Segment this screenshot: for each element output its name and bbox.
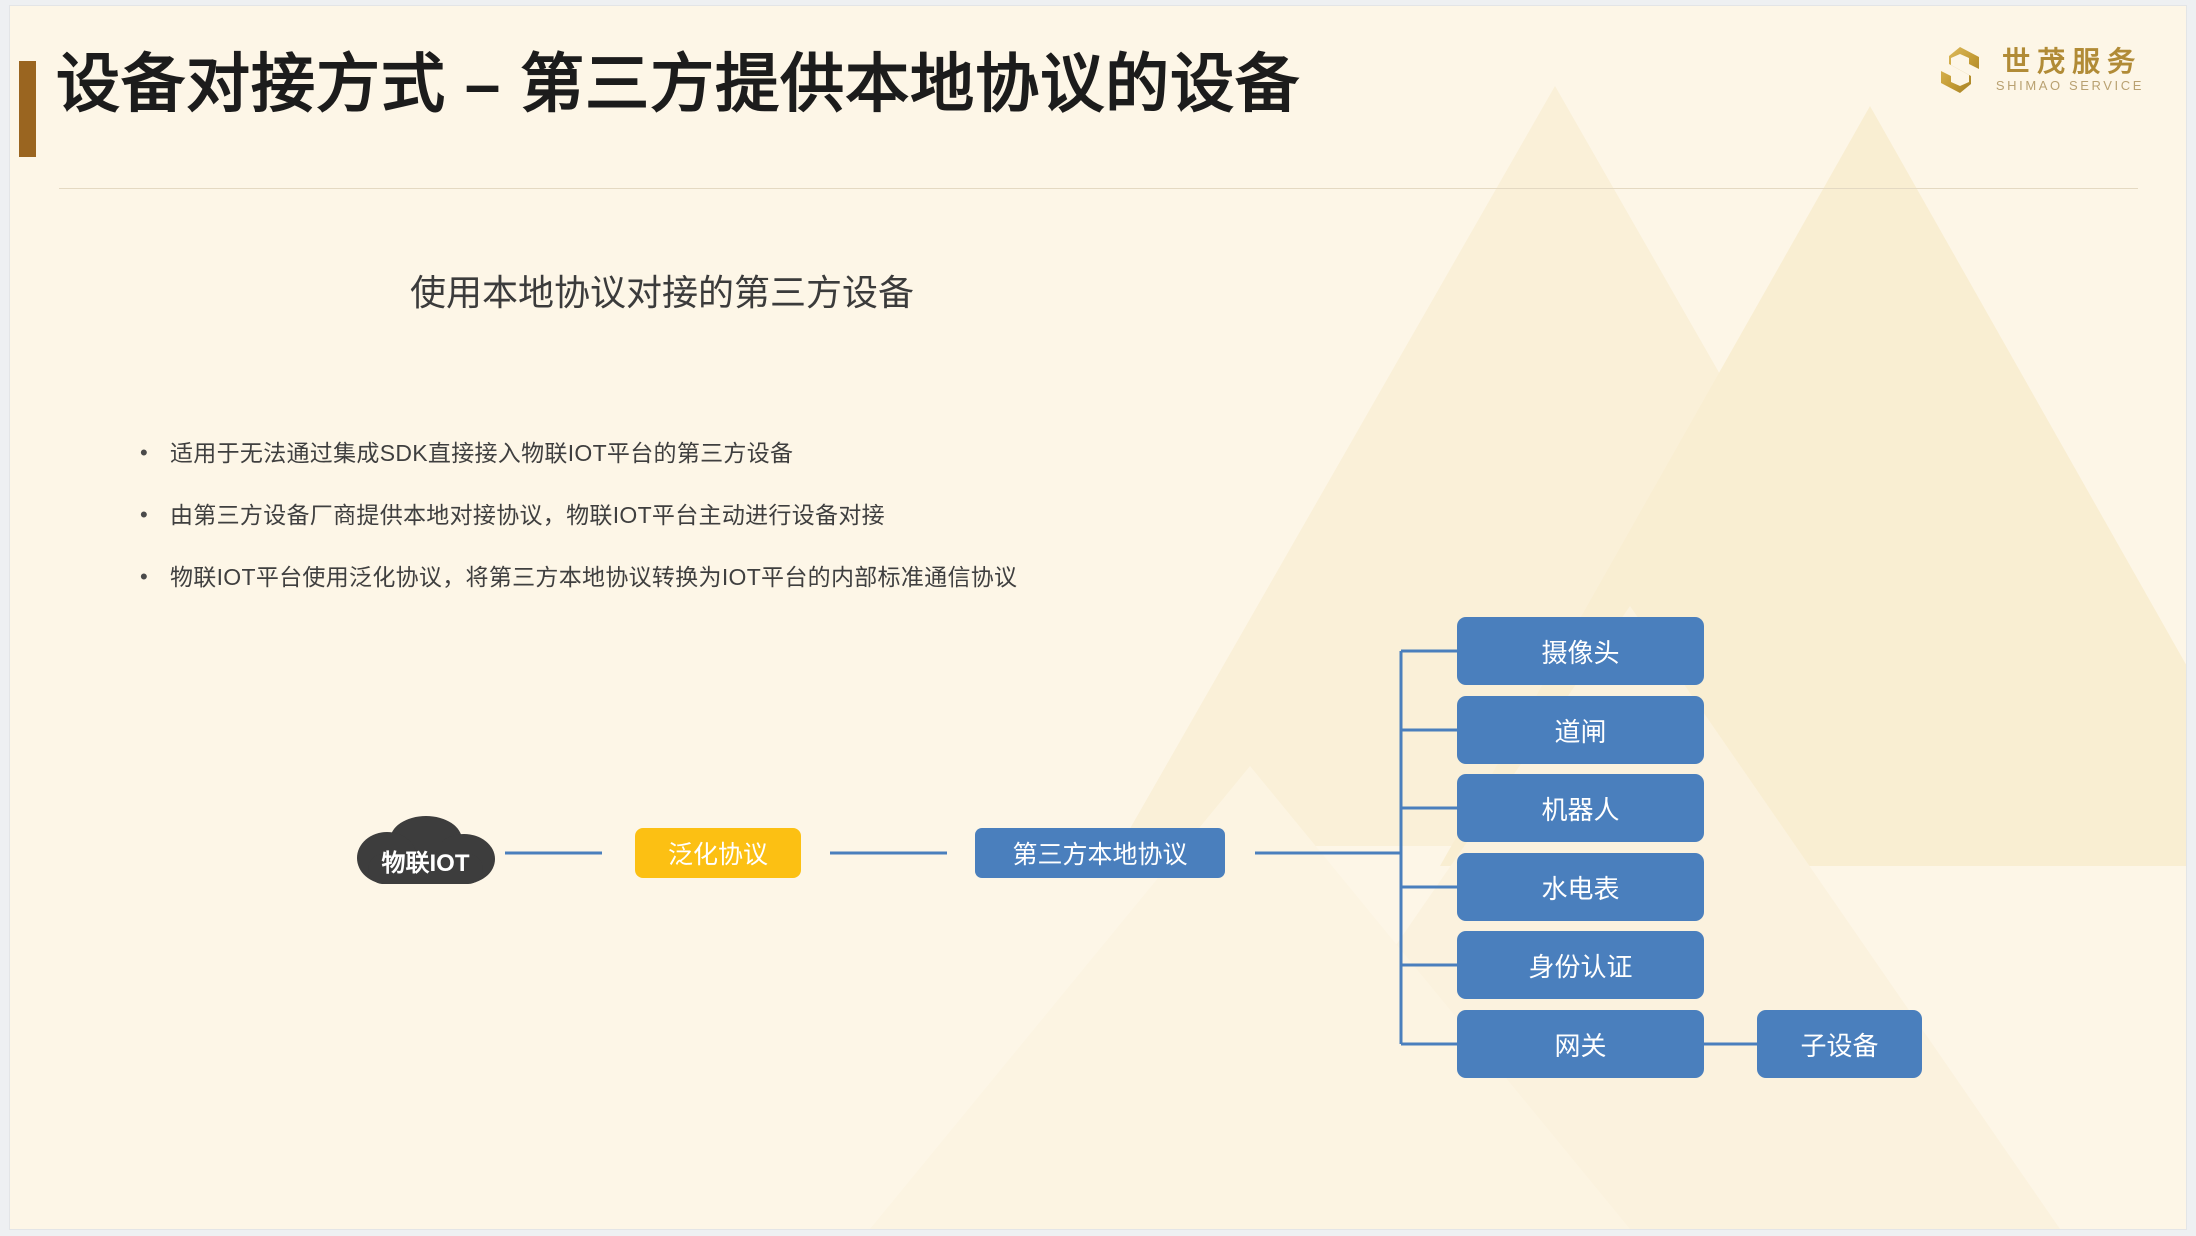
node-iot-platform[interactable]: 物联IOT <box>354 814 497 892</box>
node-third-party-local-protocol[interactable]: 第三方本地协议 <box>975 828 1225 878</box>
node-label: 泛化协议 <box>668 835 768 871</box>
node-label: 机器人 <box>1541 790 1619 827</box>
node-device-camera[interactable]: 摄像头 <box>1457 617 1704 685</box>
node-label: 子设备 <box>1800 1026 1878 1063</box>
node-label: 摄像头 <box>1541 633 1619 670</box>
node-device-water-electric-meter[interactable]: 水电表 <box>1457 853 1704 921</box>
node-device-identity-auth[interactable]: 身份认证 <box>1457 931 1704 999</box>
node-sub-device[interactable]: 子设备 <box>1757 1010 1922 1078</box>
node-label: 物联IOT <box>382 843 470 878</box>
node-device-gateway[interactable]: 网关 <box>1457 1010 1704 1078</box>
node-device-robot[interactable]: 机器人 <box>1457 774 1704 842</box>
slide-canvas: 设备对接方式 – 第三方提供本地协议的设备 世茂服务 SHIMAO SERVIC… <box>10 6 2186 1229</box>
node-device-barrier-gate[interactable]: 道闸 <box>1457 696 1704 764</box>
node-label: 网关 <box>1554 1026 1606 1063</box>
node-label: 身份认证 <box>1528 947 1632 984</box>
node-generic-protocol[interactable]: 泛化协议 <box>635 828 801 878</box>
architecture-diagram: 物联IOT 泛化协议 第三方本地协议 摄像头 道闸 机器人 水电表 身份认证 网… <box>10 6 2186 1229</box>
node-label: 水电表 <box>1541 869 1619 906</box>
node-label: 第三方本地协议 <box>1012 835 1187 871</box>
node-label: 道闸 <box>1554 712 1606 749</box>
